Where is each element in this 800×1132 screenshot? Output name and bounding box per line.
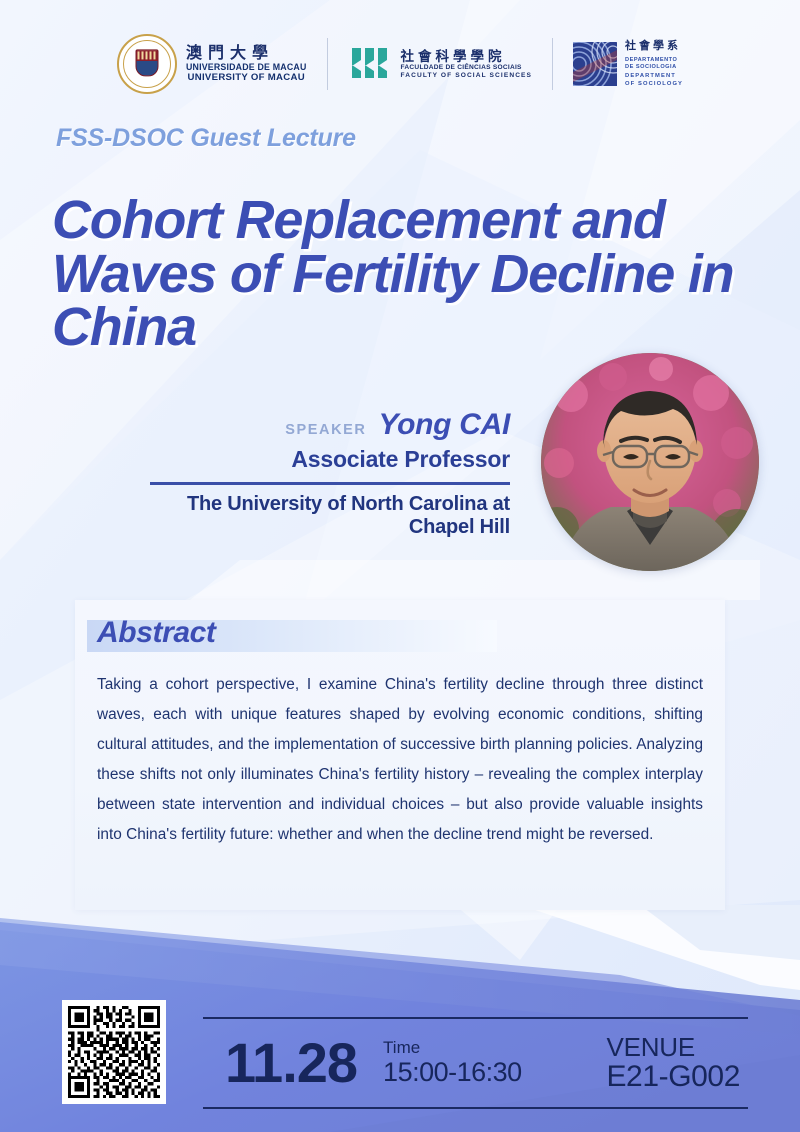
event-venue-value: E21-G002 [606, 1061, 740, 1093]
event-venue-label: VENUE [606, 1033, 740, 1061]
fss-logo-chinese: 社會科學學院 [401, 49, 533, 65]
sociology-rings-mark-icon [573, 42, 617, 86]
sociology-logo-english-line1: DEPARTMENT [625, 73, 683, 80]
event-date: 11.28 [225, 1035, 357, 1091]
fss-logo-portuguese: FACULDADE DE CIÊNCIAS SOCIAIS [401, 64, 533, 72]
logo-department-of-sociology: 社會學系 DEPARTAMENTO DE SOCIOLOGIA DEPARTME… [573, 40, 683, 87]
speaker-label: SPEAKER [285, 422, 366, 438]
logo-university-of-macau: 澳門大學 UNIVERSIDADE DE MACAU UNIVERSITY OF… [117, 34, 307, 94]
fss-s-mark-icon [348, 44, 392, 84]
abstract-heading: Abstract [97, 616, 216, 650]
logo-divider-1 [327, 38, 328, 90]
sociology-logo-english-line2: OF SOCIOLOGY [625, 81, 683, 88]
speaker-photo [541, 353, 759, 571]
um-shield-icon [135, 49, 158, 76]
qr-code-icon [68, 1006, 160, 1098]
speaker-name: Yong CAI [379, 408, 510, 442]
um-crest-icon [117, 34, 177, 94]
speaker-affiliation: The University of North Carolina at Chap… [150, 493, 510, 539]
speaker-block: SPEAKER Yong CAI Associate Professor The… [150, 408, 510, 539]
speaker-role: Associate Professor [150, 446, 510, 473]
event-time: Time 15:00-16:30 [383, 1039, 522, 1087]
abstract-body: Taking a cohort perspective, I examine C… [97, 670, 703, 850]
header-logo-bar: 澳門大學 UNIVERSIDADE DE MACAU UNIVERSITY OF… [0, 26, 800, 102]
um-logo-chinese: 澳門大學 [186, 45, 307, 63]
logo-divider-2 [552, 38, 553, 90]
logo-faculty-of-social-sciences: 社會科學學院 FACULDADE DE CIÊNCIAS SOCIAIS FAC… [348, 44, 533, 84]
event-time-label: Time [383, 1039, 522, 1057]
fss-logo-english: FACULTY OF SOCIAL SCIENCES [401, 72, 533, 80]
lecture-series-kicker: FSS-DSOC Guest Lecture [56, 124, 356, 153]
sociology-logo-portuguese-line2: DE SOCIOLOGIA [625, 64, 683, 71]
sociology-logo-portuguese-line1: DEPARTAMENTO [625, 57, 683, 64]
sociology-logo-chinese: 社會學系 [625, 40, 683, 53]
qr-code[interactable] [62, 1000, 166, 1104]
page-title: Cohort Replacement and Waves of Fertilit… [52, 194, 762, 354]
speaker-divider [150, 482, 510, 485]
event-info-bar: 11.28 Time 15:00-16:30 VENUE E21-G002 [203, 1017, 748, 1109]
event-time-value: 15:00-16:30 [383, 1058, 522, 1087]
abstract-card: Abstract Taking a cohort perspective, I … [75, 600, 725, 910]
event-venue: VENUE E21-G002 [606, 1033, 740, 1093]
portrait-illustration [541, 353, 759, 571]
um-logo-english: UNIVERSITY OF MACAU [186, 73, 307, 84]
poster-canvas: 澳門大學 UNIVERSIDADE DE MACAU UNIVERSITY OF… [0, 0, 800, 1132]
